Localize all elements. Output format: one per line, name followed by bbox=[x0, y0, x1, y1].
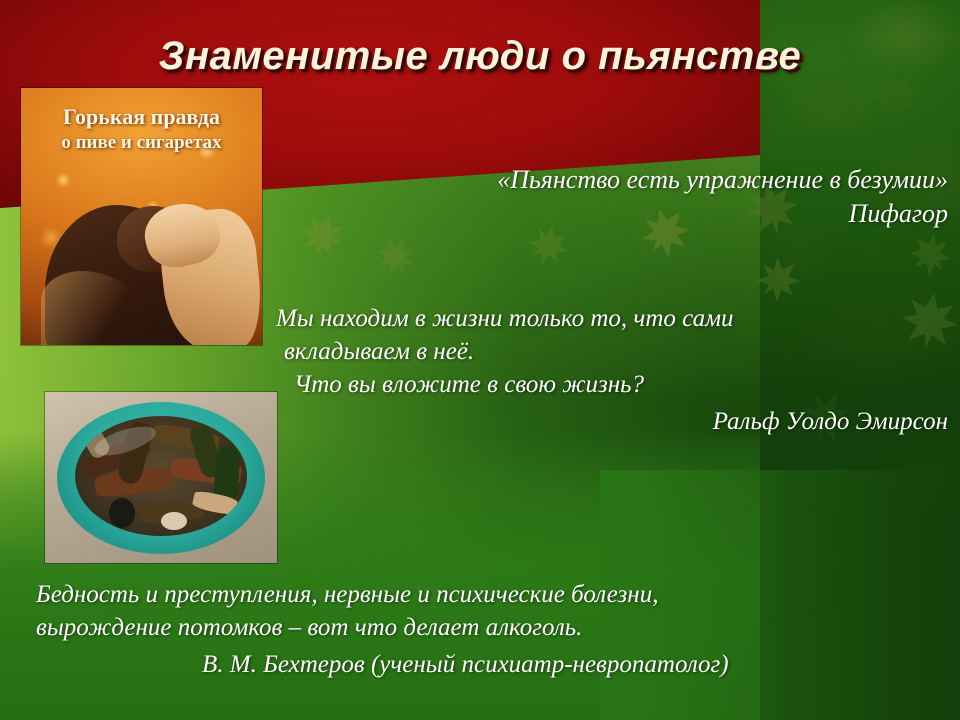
quote-line: вкладываем в неё. bbox=[276, 335, 948, 368]
presentation-slide: Знаменитые люди о пьянстве Горькая правд… bbox=[0, 0, 960, 720]
quote-line: вырождение потомков – вот что делает алк… bbox=[36, 611, 946, 644]
quote-emerson: Мы находим в жизни только то, что сами в… bbox=[276, 302, 948, 438]
quote-attribution: В. М. Бехтеров (ученый психиатр-невропат… bbox=[36, 648, 946, 681]
basin-interior bbox=[75, 416, 247, 536]
book-cover-title: Горькая правда о пиве и сигаретах bbox=[21, 104, 262, 154]
quote-bekhterev: Бедность и преступления, нервные и психи… bbox=[36, 578, 946, 681]
quote-attribution: Пифагор bbox=[497, 197, 948, 231]
bottle-shape bbox=[161, 512, 187, 530]
quote-pythagoras: «Пьянство есть упражнение в безумии» Пиф… bbox=[497, 163, 948, 232]
quote-line: Мы находим в жизни только то, что сами bbox=[276, 302, 948, 335]
bottles-basin-photo bbox=[45, 392, 277, 563]
book-cover-title-line1: Горькая правда bbox=[21, 104, 262, 131]
book-cover-photo: Горькая правда о пиве и сигаретах bbox=[21, 88, 262, 345]
bottle-shape bbox=[109, 498, 135, 528]
quote-attribution: Ральф Уолдо Эмирсон bbox=[276, 405, 948, 438]
quote-line: Что вы вложите в свою жизнь? bbox=[276, 368, 948, 401]
quote-line: «Пьянство есть упражнение в безумии» bbox=[497, 163, 948, 197]
book-cover-title-line2: о пиве и сигаретах bbox=[21, 131, 262, 154]
quote-line: Бедность и преступления, нервные и психи… bbox=[36, 578, 946, 611]
page-title: Знаменитые люди о пьянстве bbox=[0, 34, 960, 79]
